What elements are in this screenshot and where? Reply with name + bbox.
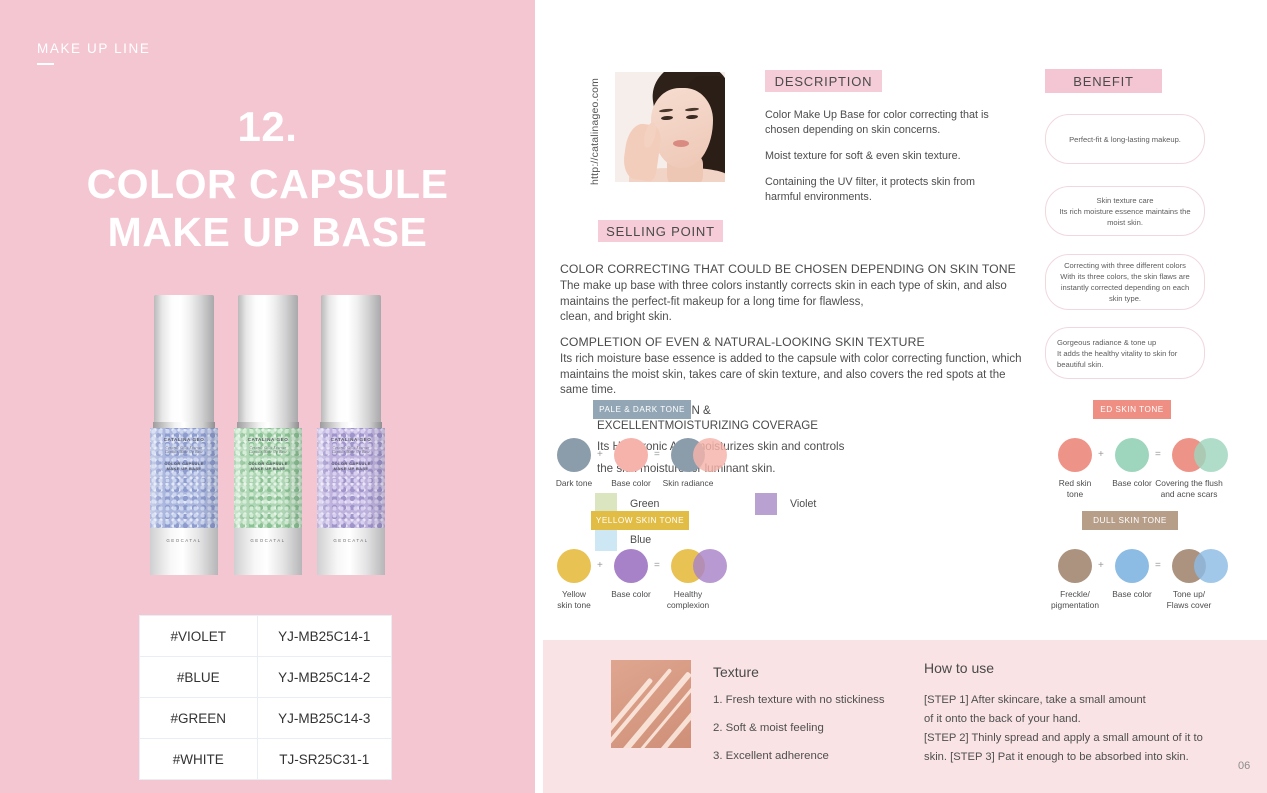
bottle-brand: CATALINA GEO	[234, 437, 302, 442]
result-circle-base	[1194, 438, 1228, 472]
benefit-badge: BENEFIT	[1045, 69, 1162, 93]
selling-point-body: The make up base with three colors insta…	[560, 279, 1035, 326]
tone-circle-label: Tone up/Flaws cover	[1152, 589, 1226, 611]
base-color-circle	[1115, 438, 1149, 472]
how-to-use-body: [STEP 1] After skincare, take a small am…	[924, 691, 1234, 767]
shade-cell: #VIOLET	[140, 616, 258, 657]
bottle-foot-text: GEOCATAL	[150, 538, 218, 543]
base-color-circle	[614, 438, 648, 472]
table-row: #BLUE YJ-MB25C14-2	[140, 657, 392, 698]
shade-cell: #WHITE	[140, 739, 258, 780]
bottle-script: Ceramic Goat EssenceCapsule Make Up Base	[150, 446, 218, 455]
tone-group-red: ED SKIN TONE+=Red skintoneBase colorCove…	[1038, 400, 1248, 510]
pump-cap	[321, 295, 381, 422]
code-cell: TJ-SR25C31-1	[257, 739, 391, 780]
description-paragraph: Containing the UV filter, it protects sk…	[765, 175, 1010, 205]
how-to-use-title: How to use	[924, 660, 1234, 676]
page-title: COLOR CAPSULE MAKE UP BASE	[0, 160, 535, 256]
tone-circle-label: Skin radiance	[651, 478, 725, 489]
tone-group-yellow: YELLOW SKIN TONE+=Yellowskin toneBase co…	[537, 511, 747, 621]
result-circle-base	[693, 438, 727, 472]
table-row: #VIOLET YJ-MB25C14-1	[140, 616, 392, 657]
tone-group-pale-dark: PALE & DARK TONE+=Dark toneBase colorSki…	[537, 400, 747, 510]
table-row: #WHITE TJ-SR25C31-1	[140, 739, 392, 780]
bottle-body: CATALINA GEO Ceramic Goat EssenceCapsule…	[150, 428, 218, 528]
operator-equals: =	[1155, 449, 1161, 460]
capsule-beads	[150, 428, 218, 528]
result-circle-base	[1194, 549, 1228, 583]
texture-item: 2. Soft & moist feeling	[713, 721, 913, 735]
texture-swatch-image	[611, 660, 691, 748]
description-paragraph: Color Make Up Base for color correcting …	[765, 108, 1010, 138]
selling-point-heading: COLOR CORRECTING THAT COULD BE CHOSEN DE…	[560, 261, 1035, 277]
base-color-circle	[1115, 549, 1149, 583]
tone-group-dull: DULL SKIN TONE+=Freckle/pigmentationBase…	[1038, 511, 1248, 621]
bottle-product-name: COLOR CAPSULEMAKE UP BASE	[150, 461, 218, 471]
bottle-script: Ceramic Goat EssenceCapsule Make Up Base	[317, 446, 385, 455]
tone-circle-label: Red skintone	[1046, 478, 1104, 500]
tone-badge: YELLOW SKIN TONE	[591, 511, 689, 530]
table-row: #GREEN YJ-MB25C14-3	[140, 698, 392, 739]
benefit-item-4: Gorgeous radiance & tone upIt adds the h…	[1045, 327, 1205, 379]
skin-tone-circle	[557, 438, 591, 472]
selling-point-badge: SELLING POINT	[598, 220, 723, 242]
product-code-table: #VIOLET YJ-MB25C14-1 #BLUE YJ-MB25C14-2 …	[139, 615, 392, 780]
capsule-beads	[234, 428, 302, 528]
bottle-body: CATALINA GEO Ceramic Goat EssenceCapsule…	[234, 428, 302, 528]
description-paragraph: Moist texture for soft & even skin textu…	[765, 149, 1010, 164]
legend-item-violet: Violet	[755, 493, 816, 515]
tone-circle-label: Dark tone	[545, 478, 603, 489]
bottle-foot-text: GEOCATAL	[317, 538, 385, 543]
legend-label: Violet	[790, 498, 816, 510]
operator-equals: =	[1155, 560, 1161, 571]
tone-badge: ED SKIN TONE	[1093, 400, 1171, 419]
product-bottles: CATALINA GEO Ceramic Goat EssenceCapsule…	[150, 295, 390, 575]
operator-plus: +	[1098, 449, 1104, 460]
product-number: 12.	[0, 103, 535, 151]
description-badge: DESCRIPTION	[765, 70, 882, 92]
bottle-body: CATALINA GEO Ceramic Goat EssenceCapsule…	[317, 428, 385, 528]
pump-cap	[238, 295, 298, 422]
title-line-2: MAKE UP BASE	[0, 208, 535, 256]
texture-item: 3. Excellent adherence	[713, 749, 913, 763]
bottle-script: Ceramic Goat EssenceCapsule Make Up Base	[234, 446, 302, 455]
texture-item: 1. Fresh texture with no stickiness	[713, 693, 913, 707]
operator-plus: +	[1098, 560, 1104, 571]
description-text: Color Make Up Base for color correcting …	[765, 108, 1010, 216]
bottle-brand: CATALINA GEO	[317, 437, 385, 442]
selling-point-block-2: COMPLETION OF EVEN & NATURAL-LOOKING SKI…	[560, 334, 1035, 399]
bottle-violet: CATALINA GEO Ceramic Goat EssenceCapsule…	[317, 295, 385, 575]
benefit-item-1: Perfect-fit & long-lasting makeup.	[1045, 114, 1205, 164]
bottle-base: GEOCATAL	[234, 528, 302, 575]
operator-plus: +	[597, 449, 603, 460]
result-circle-base	[693, 549, 727, 583]
operator-equals: =	[654, 449, 660, 460]
bottle-product-name: COLOR CAPSULEMAKE UP BASE	[234, 461, 302, 471]
benefit-item-2: Skin texture careIts rich moisture essen…	[1045, 186, 1205, 236]
eyebrow-label: MAKE UP LINE	[37, 41, 150, 56]
benefit-item-3: Correcting with three different colorsWi…	[1045, 254, 1205, 310]
code-cell: YJ-MB25C14-1	[257, 616, 391, 657]
legend-swatch-violet	[755, 493, 777, 515]
selling-point-body: Its rich moisture base essence is added …	[560, 352, 1035, 399]
bottle-base: GEOCATAL	[317, 528, 385, 575]
catalog-page: MAKE UP LINE 12. COLOR CAPSULE MAKE UP B…	[0, 0, 1267, 793]
tone-badge: PALE & DARK TONE	[593, 400, 691, 419]
left-hero-panel: MAKE UP LINE 12. COLOR CAPSULE MAKE UP B…	[0, 0, 535, 793]
selling-point-heading: COMPLETION OF EVEN & NATURAL-LOOKING SKI…	[560, 334, 1035, 350]
bottle-green: CATALINA GEO Ceramic Goat EssenceCapsule…	[234, 295, 302, 575]
tone-badge: DULL SKIN TONE	[1082, 511, 1178, 530]
pump-cap	[154, 295, 214, 422]
operator-equals: =	[654, 560, 660, 571]
bottle-blue: CATALINA GEO Ceramic Goat EssenceCapsule…	[150, 295, 218, 575]
title-line-1: COLOR CAPSULE	[0, 160, 535, 208]
texture-title: Texture	[713, 664, 913, 680]
tone-circle-label: Covering the flushand acne scars	[1152, 478, 1226, 500]
selling-point-block-1: COLOR CORRECTING THAT COULD BE CHOSEN DE…	[560, 261, 1035, 326]
capsule-beads	[317, 428, 385, 528]
skin-tone-circle	[557, 549, 591, 583]
page-number: 06	[1238, 760, 1250, 772]
bottle-brand: CATALINA GEO	[150, 437, 218, 442]
tone-circle-label: Freckle/pigmentation	[1046, 589, 1104, 611]
watermark-url: http://catalinageo.com	[589, 75, 699, 185]
code-cell: YJ-MB25C14-3	[257, 698, 391, 739]
eyebrow-rule	[37, 63, 54, 65]
texture-block: Texture 1. Fresh texture with no stickin…	[713, 664, 913, 777]
shade-cell: #GREEN	[140, 698, 258, 739]
skin-tone-circle	[1058, 549, 1092, 583]
base-color-circle	[614, 549, 648, 583]
skin-tone-circle	[1058, 438, 1092, 472]
how-to-use-block: How to use [STEP 1] After skincare, take…	[924, 660, 1234, 767]
tone-circle-label: Healthycomplexion	[651, 589, 725, 611]
bottle-base: GEOCATAL	[150, 528, 218, 575]
bottle-product-name: COLOR CAPSULEMAKE UP BASE	[317, 461, 385, 471]
shade-cell: #BLUE	[140, 657, 258, 698]
footer-panel: Texture 1. Fresh texture with no stickin…	[543, 640, 1267, 793]
operator-plus: +	[597, 560, 603, 571]
tone-circle-label: Yellowskin tone	[545, 589, 603, 611]
right-content: http://catalinageo.com DESCRIPTION Color…	[535, 0, 1267, 793]
code-cell: YJ-MB25C14-2	[257, 657, 391, 698]
bottle-foot-text: GEOCATAL	[234, 538, 302, 543]
